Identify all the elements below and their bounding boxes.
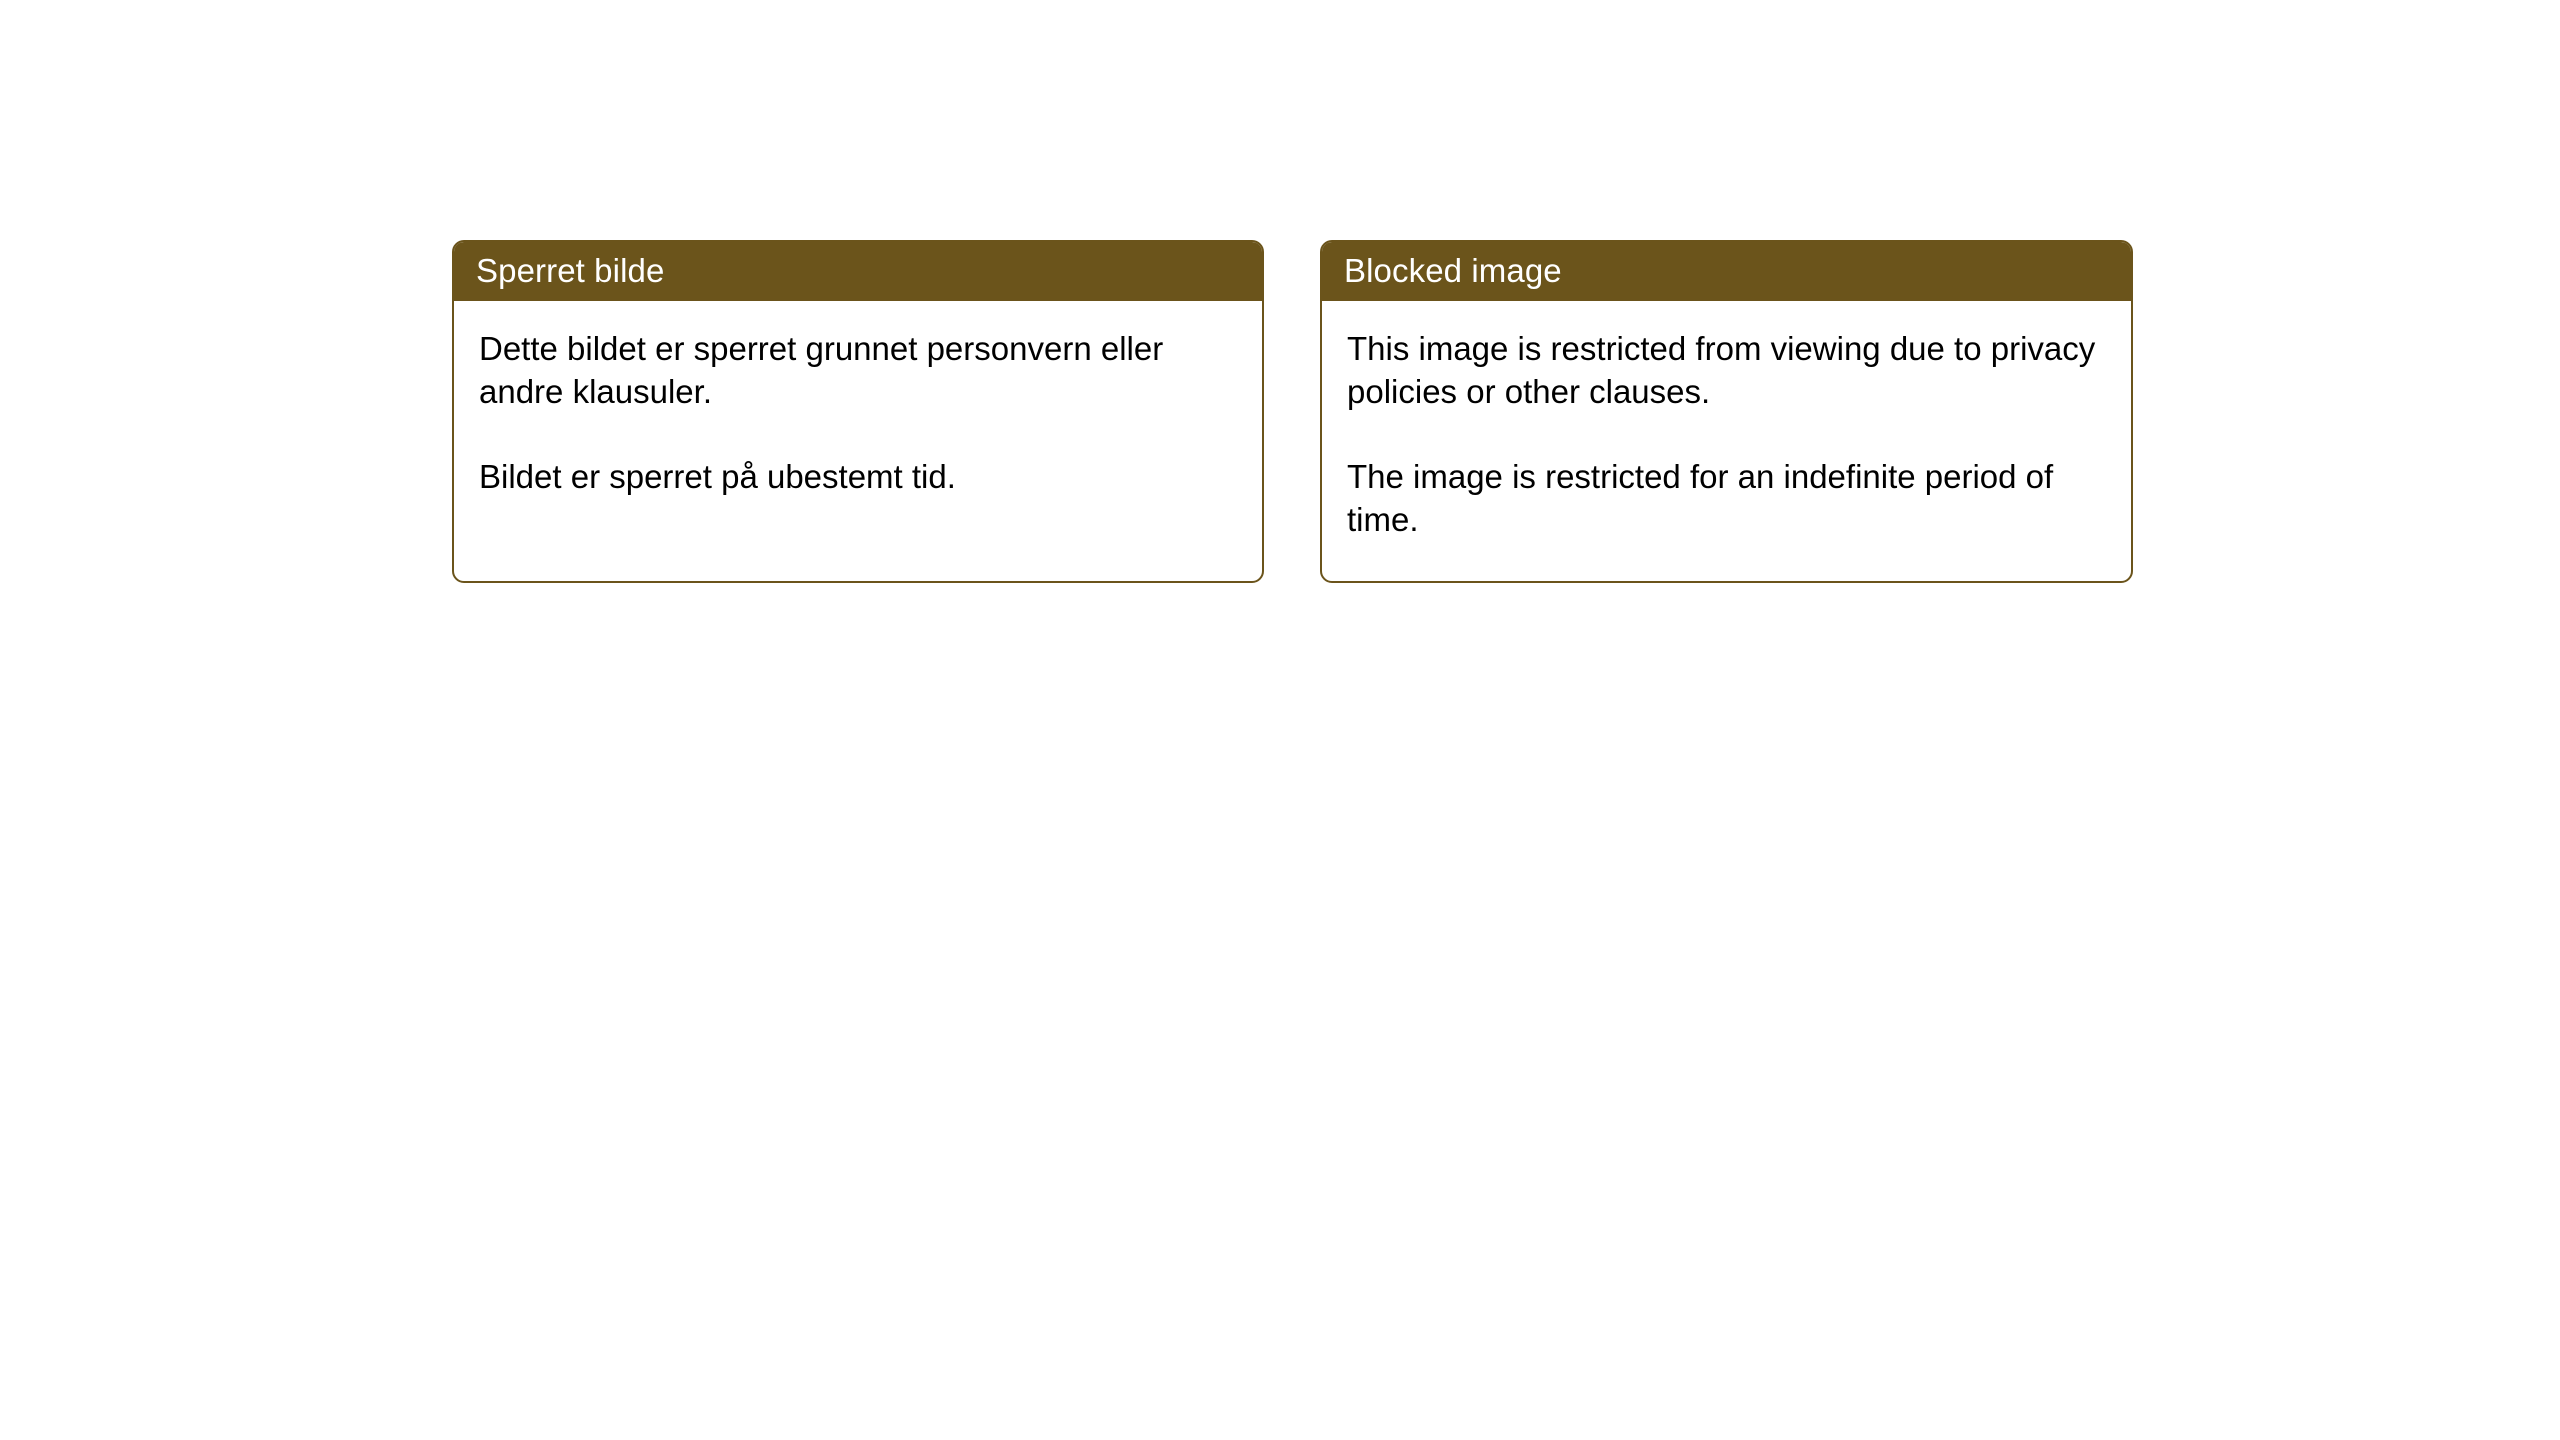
card-paragraph-primary-english: This image is restricted from viewing du… xyxy=(1347,327,2103,413)
card-title-english: Blocked image xyxy=(1344,254,1562,287)
card-body-norwegian: Dette bildet er sperret grunnet personve… xyxy=(454,301,1262,498)
card-paragraph-secondary-norwegian: Bildet er sperret på ubestemt tid. xyxy=(479,455,1234,498)
card-header-english: Blocked image xyxy=(1320,240,2133,301)
card-header-norwegian: Sperret bilde xyxy=(452,240,1264,301)
page-root: Sperret bilde Dette bildet er sperret gr… xyxy=(0,0,2560,1440)
paragraph-spacer-english xyxy=(1347,413,2103,455)
paragraph-spacer-norwegian xyxy=(479,413,1234,455)
card-paragraph-primary-norwegian: Dette bildet er sperret grunnet personve… xyxy=(479,327,1234,413)
card-title-norwegian: Sperret bilde xyxy=(476,254,664,287)
card-paragraph-secondary-english: The image is restricted for an indefinit… xyxy=(1347,455,2103,541)
card-body-english: This image is restricted from viewing du… xyxy=(1322,301,2131,541)
blocked-image-notice-card-english: Blocked image This image is restricted f… xyxy=(1320,240,2133,583)
blocked-image-notice-card-norwegian: Sperret bilde Dette bildet er sperret gr… xyxy=(452,240,1264,583)
